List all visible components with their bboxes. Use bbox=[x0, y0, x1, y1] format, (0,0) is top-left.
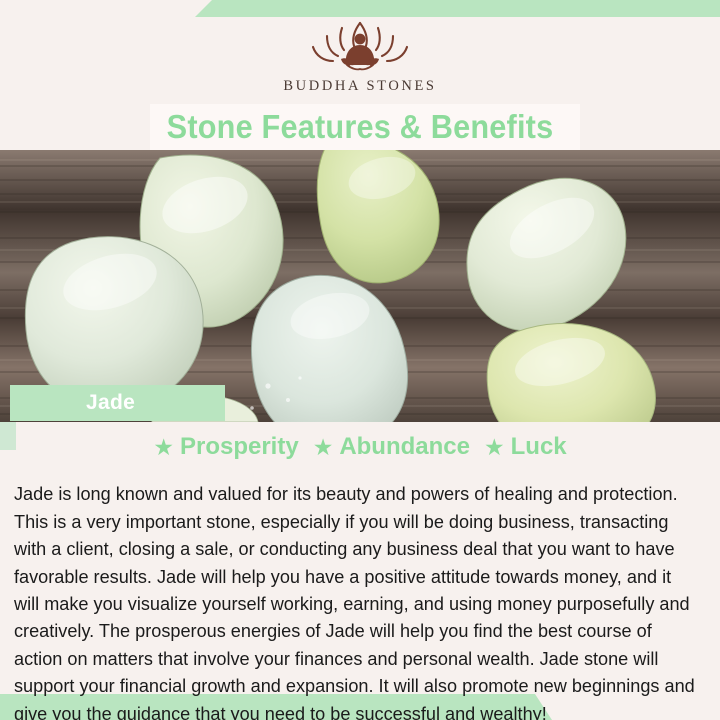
brand-logo: BUDDHA STONES bbox=[0, 14, 720, 106]
benefit-item-luck: ★ Luck bbox=[484, 433, 567, 461]
benefit-label: Abundance bbox=[339, 433, 470, 461]
star-icon: ★ bbox=[484, 436, 505, 459]
brand-name: BUDDHA STONES bbox=[283, 78, 436, 95]
benefit-item-abundance: ★ Abundance bbox=[313, 433, 470, 461]
stone-features-infographic: BUDDHA STONES Stone Features & Benefits bbox=[0, 0, 720, 720]
star-icon: ★ bbox=[153, 436, 174, 459]
stone-description: Jade is long known and valued for its be… bbox=[14, 480, 696, 720]
page-title: Stone Features & Benefits bbox=[25, 104, 695, 150]
star-icon: ★ bbox=[313, 436, 334, 459]
stone-name-text: Jade bbox=[86, 391, 135, 415]
benefit-label: Luck bbox=[511, 433, 567, 461]
benefit-item-prosperity: ★ Prosperity bbox=[153, 433, 298, 461]
stone-photo bbox=[0, 150, 720, 422]
benefit-label: Prosperity bbox=[180, 433, 299, 461]
jade-stones-image bbox=[0, 150, 720, 422]
lotus-meditation-figure-icon bbox=[297, 14, 423, 76]
stone-name-label: Jade bbox=[10, 385, 225, 421]
benefits-row: ★ Prosperity ★ Abundance ★ Luck bbox=[0, 430, 720, 464]
